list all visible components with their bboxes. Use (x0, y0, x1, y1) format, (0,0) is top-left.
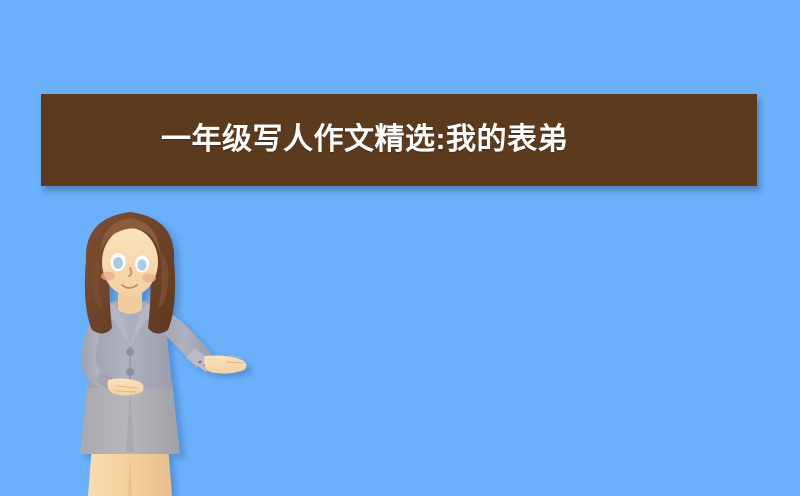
jacket-button (126, 368, 134, 376)
figure-group (80, 212, 247, 496)
title-banner: 一年级写人作文精选:我的表弟 (41, 94, 757, 186)
jacket-button (126, 348, 134, 356)
cheek-right (142, 274, 156, 283)
poster-canvas: 一年级写人作文精选:我的表弟 (0, 0, 800, 496)
illustration-woman-presenter (30, 196, 250, 496)
face (102, 228, 158, 296)
page-title: 一年级写人作文精选:我的表弟 (41, 125, 568, 155)
cheek-left (101, 272, 115, 281)
